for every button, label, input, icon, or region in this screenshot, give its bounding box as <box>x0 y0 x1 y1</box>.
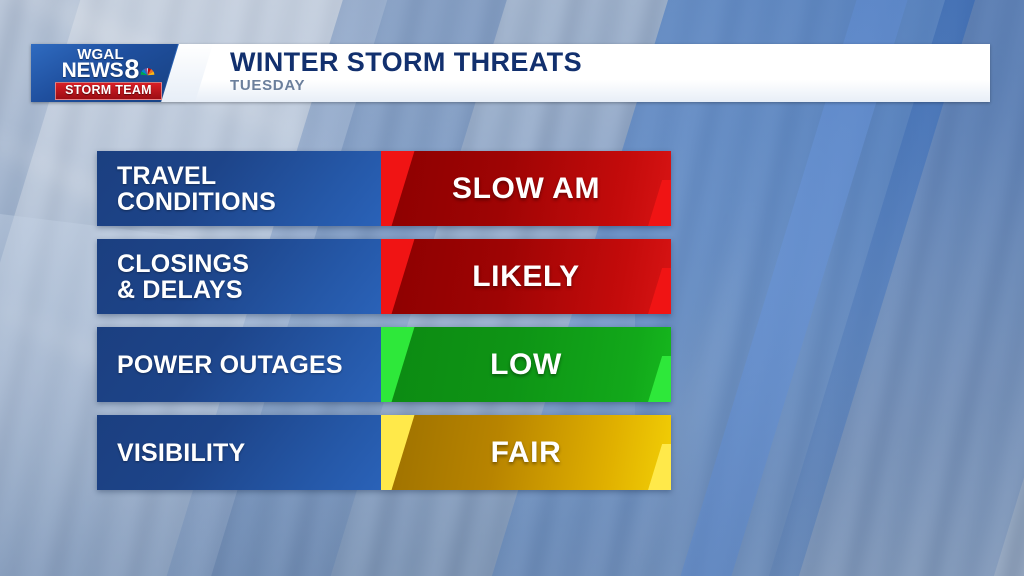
threat-label-line2: & DELAYS <box>117 277 249 303</box>
threat-label-line2: CONDITIONS <box>117 189 276 215</box>
threat-label-cell: CLOSINGS & DELAYS <box>97 239 381 314</box>
threat-label: CLOSINGS & DELAYS <box>117 251 249 303</box>
threat-label-cell: TRAVEL CONDITIONS <box>97 151 381 226</box>
threat-label-line1: CLOSINGS <box>117 250 249 278</box>
threat-value-cell: FAIR <box>381 415 671 490</box>
storm-team-badge: STORM TEAM <box>55 82 162 100</box>
threat-value-cell: SLOW AM <box>381 151 671 226</box>
threat-value: LIKELY <box>472 260 580 294</box>
threat-row: TRAVEL CONDITIONS SLOW AM <box>97 151 671 226</box>
threat-value: SLOW AM <box>452 172 600 206</box>
station-news-channel: NEWS 8 <box>62 61 156 81</box>
threat-value: LOW <box>490 348 562 382</box>
threat-label-line1: POWER OUTAGES <box>117 351 343 379</box>
threat-label-line1: TRAVEL <box>117 162 216 190</box>
threat-value: FAIR <box>491 436 562 470</box>
page-title: WINTER STORM THREATS <box>230 48 990 77</box>
threat-value-cell: LIKELY <box>381 239 671 314</box>
threat-row: CLOSINGS & DELAYS LIKELY <box>97 239 671 314</box>
threat-list: TRAVEL CONDITIONS SLOW AM CLOSINGS & DEL… <box>97 151 671 503</box>
threat-row: VISIBILITY FAIR <box>97 415 671 490</box>
threat-label: TRAVEL CONDITIONS <box>117 163 276 215</box>
threat-label: VISIBILITY <box>117 440 245 466</box>
threat-label: POWER OUTAGES <box>117 352 343 378</box>
threat-label-cell: POWER OUTAGES <box>97 327 381 402</box>
threat-label-cell: VISIBILITY <box>97 415 381 490</box>
header-bar: WGAL NEWS 8 STORM TEAM <box>31 44 990 102</box>
threat-row: POWER OUTAGES LOW <box>97 327 671 402</box>
station-news-word: NEWS <box>62 61 124 81</box>
threat-label-line1: VISIBILITY <box>117 439 245 467</box>
station-channel-number: 8 <box>124 58 139 80</box>
title-banner: WINTER STORM THREATS TUESDAY <box>186 44 990 102</box>
page-subtitle: TUESDAY <box>230 77 990 94</box>
nbc-peacock-icon <box>140 66 155 81</box>
threat-value-cell: LOW <box>381 327 671 402</box>
